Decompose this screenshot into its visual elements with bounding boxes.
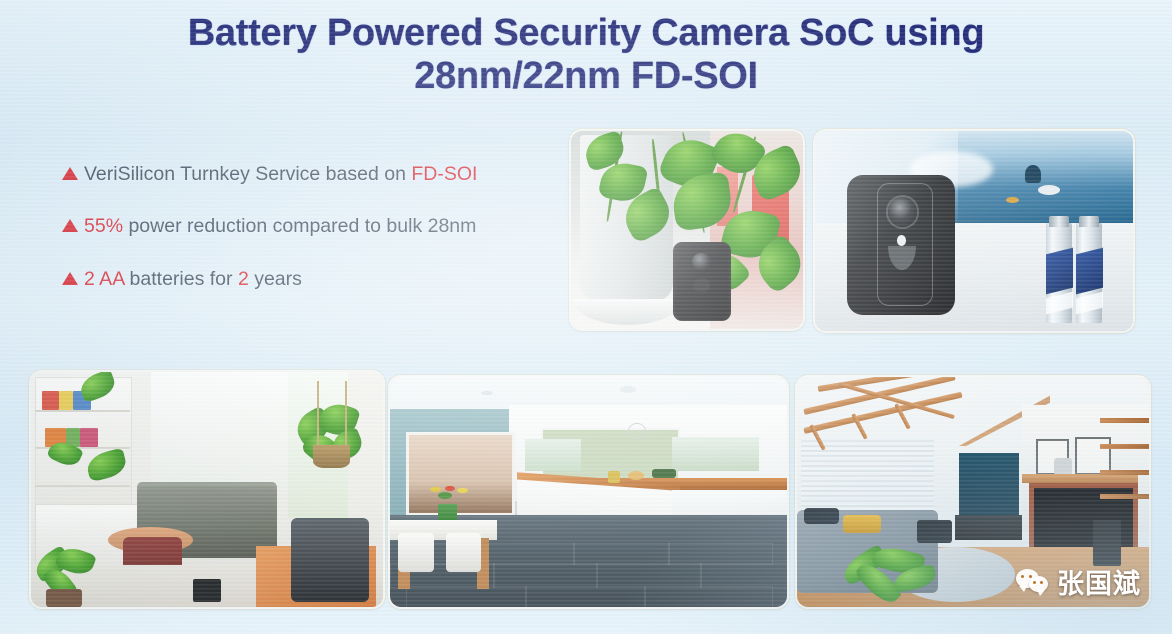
bullet-segment-accent: 2 — [238, 268, 249, 290]
title-line-2: 28nm/22nm FD-SOI — [0, 55, 1172, 98]
aa-battery — [1076, 223, 1103, 323]
photo-kitchen — [390, 377, 787, 607]
triangle-bullet-icon — [62, 219, 78, 232]
triangle-bullet-icon — [62, 272, 78, 285]
list-item: 2 AA batteries for 2 years — [62, 267, 562, 291]
bullet-segment-accent: 55% — [84, 215, 123, 237]
bullet-text: 2 AA batteries for 2 years — [84, 267, 302, 291]
photo-living-room-fireplace — [797, 377, 1149, 607]
security-camera-device — [673, 242, 731, 321]
photo-camera-batteries — [815, 131, 1133, 331]
bullet-segment: years — [249, 268, 302, 290]
triangle-bullet-icon — [62, 167, 78, 180]
bullet-segment-accent: 2 AA — [84, 268, 124, 290]
bullet-text: VeriSilicon Turnkey Service based on FD-… — [84, 162, 477, 186]
list-item: VeriSilicon Turnkey Service based on FD-… — [62, 162, 562, 186]
list-item: 55% power reduction compared to bulk 28n… — [62, 214, 562, 238]
bullet-segment: VeriSilicon Turnkey Service based on — [84, 163, 411, 185]
bullet-text: 55% power reduction compared to bulk 28n… — [84, 214, 476, 238]
aa-battery — [1046, 223, 1073, 323]
bullet-segment: batteries for — [124, 268, 238, 290]
page-title: Battery Powered Security Camera SoC usin… — [0, 12, 1172, 97]
photo-camera-plant — [571, 131, 803, 329]
photo-living-room-bookshelf — [31, 372, 383, 607]
slide-surface: Battery Powered Security Camera SoC usin… — [0, 0, 1172, 634]
bullet-list: VeriSilicon Turnkey Service based on FD-… — [62, 162, 562, 319]
bullet-segment: power reduction compared to bulk 28nm — [123, 215, 476, 237]
bullet-segment-accent: FD-SOI — [411, 163, 477, 185]
security-camera-device — [847, 175, 955, 315]
title-line-1: Battery Powered Security Camera SoC usin… — [0, 12, 1172, 55]
